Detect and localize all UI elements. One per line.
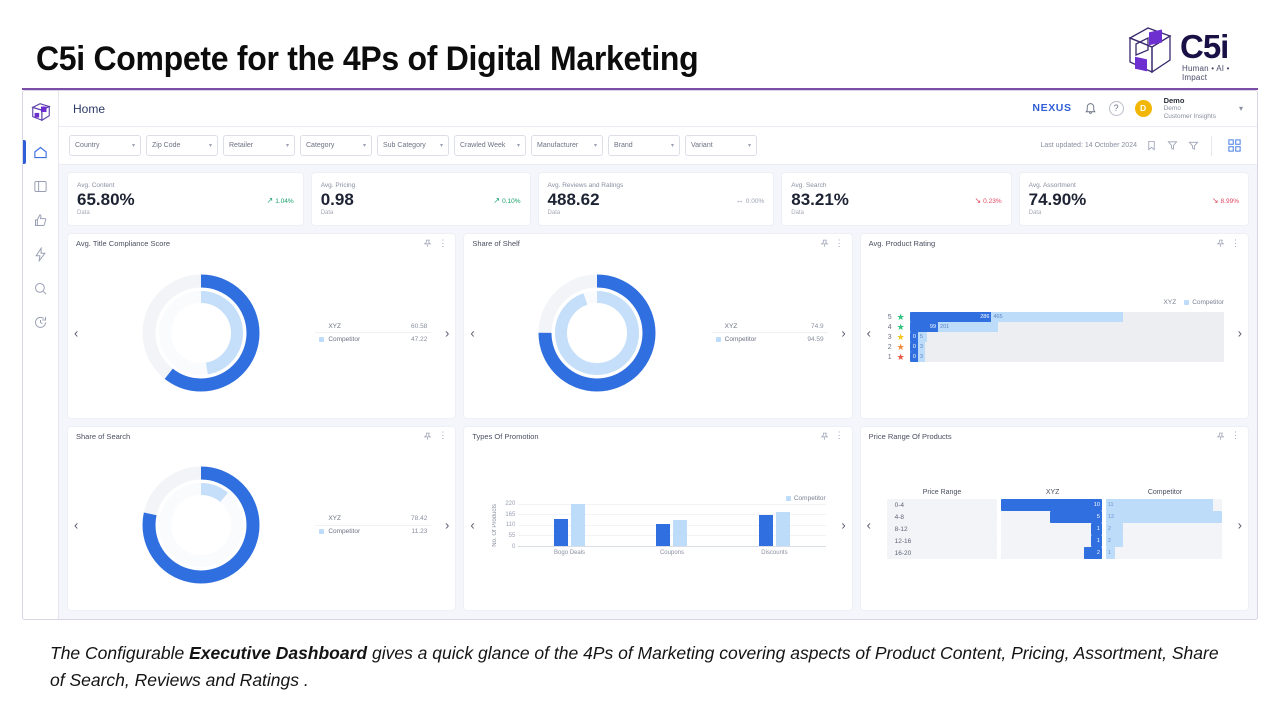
- panel-body: ‹ Competitor No. Of Products: [464, 441, 851, 611]
- kpi-card-search[interactable]: Avg. Search 83.21% Data ↘0.23%: [781, 172, 1011, 226]
- cell-xyz: 1: [1001, 535, 1102, 547]
- x-axis-labels: Bogo Deals Coupons Discounts: [518, 547, 825, 556]
- rating-row: 3 ★ 0 5: [885, 332, 1224, 342]
- carousel-prev-button[interactable]: ‹: [470, 519, 474, 532]
- legend-row: XYZ 78.42: [315, 513, 431, 526]
- pin-icon: [423, 239, 432, 248]
- panel-title: Types Of Promotion: [472, 432, 538, 441]
- bar-value: 2: [1108, 526, 1111, 532]
- bar-track: 0 3: [910, 342, 1224, 352]
- legend-value: 78.42: [411, 515, 427, 522]
- legend-label: XYZ: [328, 515, 341, 522]
- legend-label: Competitor: [328, 528, 360, 535]
- legend-swatch-competitor: [319, 529, 324, 534]
- panel-body: ‹ XYZ Competitor 5 ★: [861, 248, 1248, 418]
- cell-xyz: 10: [1001, 499, 1102, 511]
- chevron-down-icon: ▾: [209, 142, 212, 149]
- rating-number: 5: [885, 314, 892, 321]
- notifications-button[interactable]: [1083, 101, 1098, 116]
- legend-label: XYZ: [1164, 299, 1177, 306]
- bar-xyz: [759, 515, 773, 546]
- legend-share-of-search: XYZ 78.42 Competitor 11.23: [315, 513, 431, 538]
- kpi-delta-value: 8.99%: [1221, 198, 1239, 205]
- chevron-down-icon: ▾: [594, 142, 597, 149]
- carousel-next-button[interactable]: ›: [1238, 326, 1242, 339]
- cell-competitor: 1: [1106, 547, 1222, 559]
- app-window: Home NEXUS ? D Demo Demo Customer Insigh…: [22, 90, 1258, 620]
- rating-rows: 5 ★ 286 465 4: [885, 312, 1224, 362]
- bar-xyz: 1: [1091, 535, 1102, 547]
- bar-track: 0 5: [910, 332, 1224, 342]
- bar-value: 0: [913, 354, 916, 360]
- pin-icon: [820, 239, 829, 248]
- kpi-delta: ↗0.10%: [493, 197, 520, 205]
- bar-value: 1: [1097, 526, 1100, 532]
- cell-competitor: 12: [1106, 511, 1222, 523]
- bar-xyz: 286: [910, 312, 992, 322]
- legend-row: Competitor 94.59: [712, 333, 828, 345]
- search-icon: [33, 281, 48, 296]
- carousel-prev-button[interactable]: ‹: [470, 326, 474, 339]
- user-menu-chevron-down-icon[interactable]: ▾: [1239, 104, 1243, 113]
- panel-share-of-search: Share of Search ⋮ ‹: [67, 426, 456, 612]
- donut-chart-share-of-search: [68, 462, 315, 588]
- caption-pre: The Configurable: [50, 643, 189, 663]
- price-range-table: Price Range XYZ Competitor 0-4 10 1: [861, 487, 1248, 563]
- cell-competitor: 2: [1106, 535, 1222, 547]
- y-tick: 220: [505, 501, 515, 507]
- sidebar-item-reports[interactable]: [26, 171, 56, 201]
- filter-label: Variant: [691, 142, 713, 149]
- user-info: Demo Demo Customer Insights: [1164, 97, 1216, 120]
- kpi-foot: Data: [321, 210, 521, 216]
- bell-icon: [1084, 102, 1097, 115]
- bar-groups: [518, 504, 825, 546]
- cell-price-range: 12-16: [887, 535, 998, 547]
- legend-value: 74.9: [811, 323, 824, 330]
- promotion-column-chart: Competitor No. Of Products 220 165 110: [464, 491, 851, 560]
- rating-number: 2: [885, 344, 892, 351]
- pin-icon: [820, 432, 829, 441]
- carousel-prev-button[interactable]: ‹: [867, 519, 871, 532]
- rating-row: 1 ★ 0 3: [885, 352, 1224, 362]
- carousel-next-button[interactable]: ›: [445, 519, 449, 532]
- sidebar-item-home[interactable]: [26, 137, 56, 167]
- kpi-delta: ↗1.04%: [267, 197, 294, 205]
- panel-price-range: Price Range Of Products ⋮ ‹: [860, 426, 1249, 612]
- bar-competitor: 465: [991, 312, 1123, 322]
- pin-button[interactable]: [423, 239, 432, 248]
- table-row: 12-16 1 2: [887, 535, 1222, 547]
- y-tick: 165: [505, 512, 515, 518]
- pin-button[interactable]: [820, 239, 829, 248]
- logo-wordmark: C5i: [1180, 28, 1228, 66]
- bookmark-button[interactable]: [1146, 140, 1158, 152]
- y-tick: 55: [509, 533, 516, 539]
- bar-value: 201: [940, 324, 949, 330]
- pin-icon: [1216, 239, 1225, 248]
- filter-label: Crawled Week: [460, 142, 505, 149]
- topbar-right: NEXUS ? D Demo Demo Customer Insights ▾: [1032, 97, 1243, 120]
- kpi-label: Avg. Content: [77, 182, 294, 189]
- panel-menu-button[interactable]: ⋮: [1231, 433, 1240, 438]
- legend-row: XYZ 74.9: [712, 320, 828, 333]
- bar-competitor: 3: [918, 352, 926, 362]
- c5i-cube-icon: [1122, 22, 1178, 78]
- rating-row: 2 ★ 0 3: [885, 342, 1224, 352]
- kpi-label: Avg. Reviews and Ratings: [548, 182, 765, 189]
- bar-value: 12: [1108, 514, 1114, 520]
- legend-value: 94.59: [807, 336, 823, 343]
- dashboard-board: Avg. Content 65.80% Data ↗1.04% Avg. Pri…: [59, 165, 1257, 619]
- filter-brand[interactable]: Brand▾: [608, 135, 680, 156]
- home-icon: [33, 145, 48, 160]
- sidebar-brand-icon[interactable]: [30, 101, 52, 123]
- donut-svg: [534, 270, 660, 396]
- bar-value: 465: [993, 314, 1002, 320]
- kpi-value: 65.80%: [77, 189, 294, 210]
- app-sidebar: [23, 91, 59, 619]
- bar-value: 10: [1094, 502, 1100, 508]
- kpi-label: Avg. Assortment: [1029, 182, 1239, 189]
- bar-competitor: [776, 512, 790, 546]
- panel-header: Share of Search ⋮: [68, 427, 455, 441]
- carousel-next-button[interactable]: ›: [445, 326, 449, 339]
- bar-group-coupons: [621, 504, 723, 546]
- trend-down-icon: ↘: [1212, 197, 1219, 205]
- filter-label: Zip Code: [152, 142, 180, 149]
- legend-item-competitor: Competitor: [1184, 299, 1224, 306]
- filter-label: Country: [75, 142, 100, 149]
- kpi-delta-value: 0.00%: [746, 198, 764, 205]
- panel-menu-button[interactable]: ⋮: [835, 433, 844, 438]
- cell-xyz: 1: [1001, 523, 1102, 535]
- bar-xyz: 0: [910, 342, 918, 352]
- lightning-icon: [33, 247, 48, 262]
- bar-track: 99 201: [910, 322, 1224, 332]
- kpi-value: 74.90%: [1029, 189, 1239, 210]
- bar-value: 286: [980, 314, 989, 320]
- filter-zip-code[interactable]: Zip Code▾: [146, 135, 218, 156]
- pin-button[interactable]: [1216, 432, 1225, 441]
- x-tick: Bogo Deals: [518, 547, 620, 556]
- legend-value: 11.23: [412, 528, 428, 535]
- panel-body: ‹: [68, 441, 455, 611]
- rating-bar-chart: XYZ Competitor 5 ★ 286: [861, 297, 1248, 368]
- app-main: Home NEXUS ? D Demo Demo Customer Insigh…: [59, 91, 1257, 619]
- kpi-card-reviews-ratings[interactable]: Avg. Reviews and Ratings 488.62 Data ↔0.…: [538, 172, 775, 226]
- bar-value: 0: [913, 334, 916, 340]
- table-row: 0-4 10 11: [887, 499, 1222, 511]
- cell-xyz: 2: [1001, 547, 1102, 559]
- cell-price-range: 0-4: [887, 499, 998, 511]
- carousel-next-button[interactable]: ›: [841, 326, 845, 339]
- panel-row-2: Share of Search ⋮ ‹: [67, 426, 1249, 612]
- panel-header: Price Range Of Products ⋮: [861, 427, 1248, 441]
- user-org: Demo: [1164, 105, 1216, 112]
- sidebar-item-alerts[interactable]: [26, 239, 56, 269]
- cell-xyz: 5: [1001, 511, 1102, 523]
- pin-button[interactable]: [1216, 239, 1225, 248]
- bar-value: 11: [1108, 502, 1114, 508]
- bar-value: 2: [1108, 538, 1111, 544]
- filter-label: Category: [306, 142, 334, 149]
- help-button[interactable]: ?: [1109, 101, 1124, 116]
- app-topbar: Home NEXUS ? D Demo Demo Customer Insigh…: [59, 91, 1257, 127]
- carousel-next-button[interactable]: ›: [841, 519, 845, 532]
- column-header-xyz: XYZ: [997, 489, 1108, 496]
- panel-header: Share of Shelf ⋮: [464, 234, 851, 248]
- panel-body: ‹: [464, 248, 851, 418]
- user-name: Demo: [1164, 97, 1216, 105]
- kpi-card-pricing[interactable]: Avg. Pricing 0.98 Data ↗0.10%: [311, 172, 531, 226]
- chevron-down-icon: ▾: [363, 142, 366, 149]
- divider: [1211, 136, 1212, 156]
- kpi-foot: Data: [548, 210, 765, 216]
- bar-value: 2: [1097, 550, 1100, 556]
- kpi-label: Avg. Pricing: [321, 182, 521, 189]
- trend-down-icon: ↘: [974, 197, 981, 205]
- pin-icon: [1216, 432, 1225, 441]
- carousel-prev-button[interactable]: ‹: [74, 326, 78, 339]
- pin-button[interactable]: [820, 432, 829, 441]
- filter-bar-actions: Last updated: 14 October 2024: [1040, 136, 1247, 156]
- kpi-card-content[interactable]: Avg. Content 65.80% Data ↗1.04%: [67, 172, 304, 226]
- filter-button[interactable]: [1188, 140, 1200, 152]
- filter-label: Brand: [614, 142, 633, 149]
- panel-menu-button[interactable]: ⋮: [438, 241, 447, 246]
- filter-label: Sub Category: [383, 142, 426, 149]
- x-tick: Coupons: [621, 547, 723, 556]
- legend-swatch-competitor: [716, 337, 721, 342]
- donut-chart-title-compliance: [68, 270, 315, 396]
- bar-competitor: 201: [938, 322, 998, 332]
- sidebar-item-history[interactable]: [26, 307, 56, 337]
- legend-label: Competitor: [328, 336, 360, 343]
- table-row: 4-8 5 12: [887, 511, 1222, 523]
- donut-svg: [138, 462, 264, 588]
- rating-row: 5 ★ 286 465: [885, 312, 1224, 322]
- panel-grid: Avg. Title Compliance Score ⋮ ‹: [67, 233, 1249, 611]
- panel-title-compliance: Avg. Title Compliance Score ⋮ ‹: [67, 233, 456, 419]
- filter-variant[interactable]: Variant▾: [685, 135, 757, 156]
- bar-value: 1: [1097, 538, 1100, 544]
- bar-competitor: 3: [918, 342, 926, 352]
- filter-label: Retailer: [229, 142, 253, 149]
- legend-swatch-competitor: [1184, 300, 1189, 305]
- filter-label: Manufacturer: [537, 142, 578, 149]
- promotion-legend: Competitor: [490, 495, 825, 502]
- bar-xyz: 10: [1001, 499, 1102, 511]
- bar-value: 99: [930, 324, 936, 330]
- table-row: 16-20 2 1: [887, 547, 1222, 559]
- kpi-foot: Data: [791, 210, 1001, 216]
- panel-menu-button[interactable]: ⋮: [438, 433, 447, 438]
- carousel-next-button[interactable]: ›: [1238, 519, 1242, 532]
- legend-swatch-competitor: [319, 337, 324, 342]
- panel-actions: ⋮: [423, 432, 447, 441]
- bar-group-discounts: [723, 504, 825, 546]
- plot-area: No. Of Products 220 165 110 55 0: [490, 504, 825, 547]
- caption-emphasis: Executive Dashboard: [189, 643, 367, 663]
- slide-title: C5i Compete for the 4Ps of Digital Marke…: [36, 40, 698, 79]
- bar-competitor: 2: [1106, 535, 1123, 547]
- legend-title-compliance: XYZ 60.58 Competitor 47.22: [315, 320, 431, 345]
- funnel-plus-icon: [1167, 140, 1178, 151]
- filter-bar: Country▾ Zip Code▾ Retailer▾ Category▾ S…: [59, 127, 1257, 165]
- trend-up-icon: ↗: [493, 197, 500, 205]
- user-team: Customer Insights: [1164, 113, 1216, 120]
- c5i-logo: C5i Human • AI • Impact: [1122, 20, 1252, 82]
- y-tick: 110: [506, 522, 516, 528]
- kpi-delta: ↘8.99%: [1212, 197, 1239, 205]
- bar-value: 5: [920, 334, 923, 340]
- panel-product-rating: Avg. Product Rating ⋮ ‹ XYZ: [860, 233, 1249, 419]
- y-tick: 0: [512, 544, 515, 550]
- filter-country[interactable]: Country▾: [69, 135, 141, 156]
- kpi-value: 488.62: [548, 189, 765, 210]
- legend-label: XYZ: [725, 323, 738, 330]
- panel-body: ‹ Price Range XYZ Competitor: [861, 441, 1248, 611]
- panel-header: Avg. Title Compliance Score ⋮: [68, 234, 455, 248]
- panel-header: Avg. Product Rating ⋮: [861, 234, 1248, 248]
- cell-price-range: 8-12: [887, 523, 998, 535]
- bar-xyz: 1: [1091, 523, 1102, 535]
- slide-caption: The Configurable Executive Dashboard giv…: [50, 640, 1230, 694]
- sidebar-item-insights[interactable]: [26, 205, 56, 235]
- filter-crawled-week[interactable]: Crawled Week▾: [454, 135, 526, 156]
- y-axis-label: No. Of Products: [490, 504, 500, 547]
- kpi-delta-value: 0.10%: [502, 198, 520, 205]
- panel-actions: ⋮: [820, 432, 844, 441]
- bar-xyz: 2: [1084, 547, 1102, 559]
- filter-retailer[interactable]: Retailer▾: [223, 135, 295, 156]
- slide-root: C5i Compete for the 4Ps of Digital Marke…: [0, 0, 1280, 720]
- donut-svg: [138, 270, 264, 396]
- filter-saved-button[interactable]: [1167, 140, 1179, 152]
- kpi-delta-value: 1.04%: [275, 198, 293, 205]
- panel-body: ‹: [68, 248, 455, 418]
- star-icon: ★: [897, 313, 905, 322]
- panel-actions: ⋮: [820, 239, 844, 248]
- column-header-competitor: Competitor: [1108, 489, 1222, 496]
- legend-row: XYZ 60.58: [315, 320, 431, 333]
- pin-icon: [423, 432, 432, 441]
- bar-xyz: 0: [910, 352, 918, 362]
- thumbs-up-icon: [33, 213, 48, 228]
- kpi-delta: ↔0.00%: [736, 197, 764, 205]
- column-header-price-range: Price Range: [887, 489, 998, 496]
- bar-competitor: 5: [918, 332, 927, 342]
- donut-chart-share-of-shelf: [464, 270, 711, 396]
- panel-row-1: Avg. Title Compliance Score ⋮ ‹: [67, 233, 1249, 419]
- bars-area: [518, 504, 825, 547]
- panel-actions: ⋮: [1216, 239, 1240, 248]
- table-row: 8-12 1 2: [887, 523, 1222, 535]
- bar-value: 3: [920, 354, 923, 360]
- legend-row: Competitor 47.22: [315, 333, 431, 345]
- chevron-down-icon: ▾: [440, 142, 443, 149]
- legend-swatch-competitor: [786, 496, 791, 501]
- trend-up-icon: ↗: [267, 197, 274, 205]
- bar-competitor: 1: [1106, 547, 1115, 559]
- sidebar-item-search[interactable]: [26, 273, 56, 303]
- rating-number: 4: [885, 324, 892, 331]
- nexus-logo[interactable]: NEXUS: [1032, 102, 1071, 114]
- star-icon: ★: [897, 343, 905, 352]
- panel-title: Price Range Of Products: [869, 432, 952, 441]
- pin-button[interactable]: [423, 432, 432, 441]
- page-title: Home: [73, 102, 105, 116]
- panel-types-of-promotion: Types Of Promotion ⋮ ‹: [463, 426, 852, 612]
- filter-manufacturer[interactable]: Manufacturer▾: [531, 135, 603, 156]
- bar-value: 3: [920, 344, 923, 350]
- legend-value: 47.22: [411, 336, 427, 343]
- layout-toggle-button[interactable]: [1223, 136, 1245, 156]
- chevron-down-icon: ▾: [132, 142, 135, 149]
- legend-share-of-shelf: XYZ 74.9 Competitor 94.59: [712, 320, 828, 345]
- chevron-down-icon: ▾: [748, 142, 751, 149]
- bar-xyz: [554, 519, 568, 546]
- trend-flat-icon: ↔: [736, 197, 744, 205]
- history-icon: [33, 315, 48, 330]
- chevron-down-icon: ▾: [286, 142, 289, 149]
- bar-competitor: [673, 520, 687, 545]
- bar-value: 1: [1108, 550, 1111, 556]
- carousel-prev-button[interactable]: ‹: [74, 519, 78, 532]
- bar-xyz: 99: [910, 322, 938, 332]
- legend-value: 60.58: [411, 323, 427, 330]
- legend-item-xyz: XYZ: [1164, 299, 1177, 306]
- bar-value: 5: [1097, 514, 1100, 520]
- x-tick: Discounts: [723, 547, 825, 556]
- last-updated-text: Last updated: 14 October 2024: [1040, 142, 1137, 149]
- table-header: Price Range XYZ Competitor: [887, 489, 1222, 499]
- panel-title: Share of Shelf: [472, 239, 520, 248]
- bar-competitor: 11: [1106, 499, 1213, 511]
- panel-title: Avg. Product Rating: [869, 239, 936, 248]
- kpi-delta-value: 0.23%: [983, 198, 1001, 205]
- carousel-prev-button[interactable]: ‹: [867, 326, 871, 339]
- bar-competitor: 2: [1106, 523, 1123, 535]
- kpi-value: 83.21%: [791, 189, 1001, 210]
- bar-group-bogo-deals: [518, 504, 620, 546]
- filter-sub-category[interactable]: Sub Category▾: [377, 135, 449, 156]
- rating-number: 1: [885, 354, 892, 361]
- avatar[interactable]: D: [1135, 100, 1152, 117]
- panel-share-of-shelf: Share of Shelf ⋮ ‹: [463, 233, 852, 419]
- rating-row: 4 ★ 99 201: [885, 322, 1224, 332]
- panel-menu-button[interactable]: ⋮: [835, 241, 844, 246]
- bar-competitor: 12: [1106, 511, 1222, 523]
- cell-price-range: 16-20: [887, 547, 998, 559]
- kpi-foot: Data: [1029, 210, 1239, 216]
- kpi-card-assortment[interactable]: Avg. Assortment 74.90% Data ↘8.99%: [1019, 172, 1249, 226]
- kpi-row: Avg. Content 65.80% Data ↗1.04% Avg. Pri…: [67, 172, 1249, 226]
- legend-label: Competitor: [725, 336, 757, 343]
- bookmark-icon: [1146, 140, 1157, 151]
- panel-actions: ⋮: [1216, 432, 1240, 441]
- rating-number: 3: [885, 334, 892, 341]
- layout-icon: [33, 179, 48, 194]
- cell-price-range: 4-8: [887, 511, 998, 523]
- legend-label: Competitor: [1192, 299, 1224, 306]
- filter-category[interactable]: Category▾: [300, 135, 372, 156]
- cell-competitor: 2: [1106, 523, 1222, 535]
- bar-competitor: [571, 504, 585, 545]
- panel-menu-button[interactable]: ⋮: [1231, 241, 1240, 246]
- logo-tagline: Human • AI • Impact: [1182, 64, 1252, 82]
